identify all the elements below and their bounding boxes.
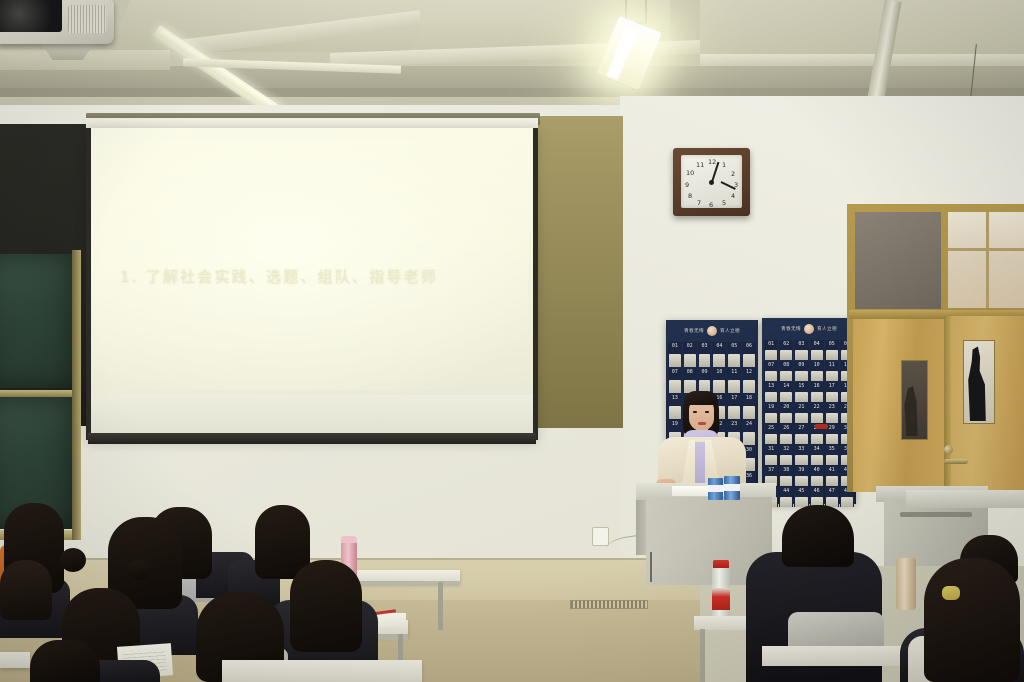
phone-pocket-flap bbox=[795, 350, 807, 360]
phone-pocket: 18 bbox=[742, 394, 756, 419]
water-bottle-label bbox=[712, 588, 730, 610]
phone-pocket-flap bbox=[669, 354, 681, 367]
phone-pocket-flap bbox=[795, 434, 807, 444]
phone-pocket: 02 bbox=[683, 342, 697, 367]
phone-pocket-number: 21 bbox=[798, 403, 804, 410]
phone-pocket: 40 bbox=[810, 466, 824, 486]
desk-front bbox=[222, 660, 422, 682]
phone-pocket-flap bbox=[811, 371, 823, 381]
phone-pocket-number: 16 bbox=[814, 382, 820, 389]
phone-pocket-number: 41 bbox=[829, 466, 835, 473]
phone-pocket-number: 01 bbox=[672, 342, 678, 349]
phone-pocket-number: 10 bbox=[814, 361, 820, 368]
projector-lens-icon bbox=[0, 0, 62, 32]
phone-pocket-flap bbox=[826, 455, 838, 465]
chair-right bbox=[788, 612, 884, 648]
blackboard-divider bbox=[0, 390, 74, 397]
phone-pocket-number: 04 bbox=[814, 340, 820, 347]
phone-pocket-number: 30 bbox=[746, 446, 752, 453]
pink-thermos-cap bbox=[341, 536, 357, 543]
phone-pocket-number: 31 bbox=[768, 445, 774, 452]
phone-pocket: 14 bbox=[779, 382, 793, 402]
phone-pocket-board-right: 青春无悔 育人立德 010203040506070809101112131415… bbox=[762, 318, 856, 504]
clock-numeral-5: 5 bbox=[722, 199, 726, 207]
phone-pocket-flap bbox=[780, 350, 792, 360]
student-hair-9 bbox=[30, 640, 100, 682]
window-mullion-vertical bbox=[986, 212, 989, 308]
phone-pocket: 41 bbox=[825, 466, 839, 486]
phone-pocket: 22 bbox=[810, 403, 824, 423]
student-hair-right bbox=[782, 505, 854, 567]
phone-pocket-flap bbox=[713, 354, 725, 367]
phone-pocket-flap bbox=[728, 406, 740, 419]
phone-pocket-flap bbox=[811, 476, 823, 486]
phone-pocket: 23 bbox=[825, 403, 839, 423]
phone-pocket: 16 bbox=[810, 382, 824, 402]
phone-pocket: 45 bbox=[794, 487, 808, 507]
phone-pocket-number: 10 bbox=[716, 368, 722, 375]
phone-pocket: 01 bbox=[764, 340, 778, 360]
phone-pocket-number: 13 bbox=[672, 394, 678, 401]
phone-pocket: 08 bbox=[779, 361, 793, 381]
slide-text-line-1: 1. 了解社会实践、选题、组队、指导老师 bbox=[120, 266, 520, 287]
wall-outlet bbox=[592, 527, 609, 546]
hair-bun-1 bbox=[60, 548, 86, 572]
phone-pocket-number: 17 bbox=[731, 394, 737, 401]
phone-pocket: 01 bbox=[668, 342, 682, 367]
phone-pocket-flap bbox=[669, 406, 681, 419]
phone-pocket-flap bbox=[743, 406, 755, 419]
phone-pocket: 31 bbox=[764, 445, 778, 465]
student-hair-right-2 bbox=[924, 558, 1020, 682]
projector-vent bbox=[68, 5, 106, 33]
phone-pocket: 19 bbox=[764, 403, 778, 423]
phone-pocket-number: 24 bbox=[746, 420, 752, 427]
desk-front-left bbox=[0, 652, 30, 668]
phone-pocket: 11 bbox=[727, 368, 741, 393]
phone-pocket-flap bbox=[743, 432, 755, 445]
phone-pocket-number: 35 bbox=[829, 445, 835, 452]
phone-pocket-flap bbox=[795, 413, 807, 423]
phone-pocket-flap bbox=[669, 380, 681, 393]
phone-pocket: 39 bbox=[794, 466, 808, 486]
pocket-board-motto-left-2: 育人立德 bbox=[720, 328, 740, 334]
door-knob[interactable] bbox=[944, 445, 953, 454]
phone-pocket-flap bbox=[765, 455, 777, 465]
phone-pocket: 32 bbox=[779, 445, 793, 465]
phone-pocket: 03 bbox=[698, 342, 712, 367]
door-stile bbox=[944, 316, 951, 492]
desk-right-leg bbox=[700, 629, 705, 682]
speaker-eye-left bbox=[693, 411, 697, 413]
phone-pocket: 03 bbox=[794, 340, 808, 360]
phone-pocket: 38 bbox=[779, 466, 793, 486]
phone-pocket: 33 bbox=[794, 445, 808, 465]
pocket-red-marker bbox=[815, 424, 828, 429]
phone-pocket-flap bbox=[811, 455, 823, 465]
phone-pocket-number: 06 bbox=[746, 342, 752, 349]
blue-cup-1-label bbox=[708, 485, 723, 492]
screen-weight-bar bbox=[88, 433, 536, 444]
phone-pocket-flap bbox=[795, 371, 807, 381]
phone-pocket: 34 bbox=[810, 445, 824, 465]
phone-pocket-number: 29 bbox=[829, 424, 835, 431]
phone-pocket-flap bbox=[795, 476, 807, 486]
desk-leg-a bbox=[438, 582, 443, 630]
phone-pocket-number: 08 bbox=[783, 361, 789, 368]
phone-pocket-flap bbox=[826, 476, 838, 486]
phone-pocket-number: 05 bbox=[829, 340, 835, 347]
floor-vent bbox=[570, 600, 648, 609]
phone-pocket-flap bbox=[699, 354, 711, 367]
clock-numeral-9: 9 bbox=[685, 181, 689, 189]
phone-pocket-flap bbox=[780, 434, 792, 444]
phone-pocket-flap bbox=[780, 371, 792, 381]
phone-pocket: 09 bbox=[794, 361, 808, 381]
phone-pocket-flap bbox=[728, 354, 740, 367]
phone-pocket: 47 bbox=[825, 487, 839, 507]
clock-numeral-7: 7 bbox=[697, 199, 701, 207]
phone-pocket-number: 32 bbox=[783, 445, 789, 452]
phone-pocket: 20 bbox=[779, 403, 793, 423]
phone-pocket-number: 18 bbox=[746, 394, 752, 401]
phone-pocket-flap bbox=[780, 476, 792, 486]
speaker-hair-front bbox=[684, 391, 718, 405]
tan-thermos bbox=[896, 558, 916, 610]
phone-pocket: 10 bbox=[712, 368, 726, 393]
pocket-board-header-right: 青春无悔 育人立德 bbox=[762, 319, 856, 339]
phone-pocket: 13 bbox=[764, 382, 778, 402]
phone-pocket: 09 bbox=[698, 368, 712, 393]
pocket-grid-right: 0102030405060708091011121314151617181920… bbox=[764, 340, 854, 502]
phone-pocket-number: 47 bbox=[829, 487, 835, 494]
lamp-stem-2 bbox=[645, 0, 647, 24]
clock-numeral-2: 2 bbox=[731, 170, 735, 178]
phone-pocket-flap bbox=[826, 371, 838, 381]
phone-pocket-number: 19 bbox=[672, 420, 678, 427]
phone-pocket-number: 23 bbox=[829, 403, 835, 410]
phone-pocket-number: 19 bbox=[768, 403, 774, 410]
phone-pocket: 11 bbox=[825, 361, 839, 381]
clock-hub bbox=[709, 180, 714, 185]
desk-center-rear-edge bbox=[352, 581, 460, 586]
phone-pocket-flap bbox=[826, 434, 838, 444]
phone-pocket: 17 bbox=[727, 394, 741, 419]
phone-pocket: 15 bbox=[794, 382, 808, 402]
speaker-eye-right bbox=[705, 411, 709, 413]
phone-pocket-number: 11 bbox=[829, 361, 835, 368]
phone-pocket-number: 07 bbox=[768, 361, 774, 368]
phone-pocket: 25 bbox=[764, 424, 778, 444]
desk-right-rear bbox=[906, 490, 1024, 508]
phone-pocket-number: 40 bbox=[814, 466, 820, 473]
phone-pocket-flap bbox=[765, 392, 777, 402]
pocket-board-motto-right-2: 育人立德 bbox=[817, 326, 837, 332]
phone-pocket-number: 44 bbox=[783, 487, 789, 494]
pocket-board-motto-left: 青春无悔 bbox=[684, 328, 704, 334]
phone-pocket: 04 bbox=[810, 340, 824, 360]
phone-pocket: 04 bbox=[712, 342, 726, 367]
hair-tie-icon bbox=[942, 586, 960, 600]
phone-pocket-number: 38 bbox=[783, 466, 789, 473]
phone-pocket-number: 20 bbox=[783, 403, 789, 410]
podium-cable bbox=[650, 552, 652, 582]
blackboard-panel-top bbox=[0, 254, 72, 388]
clock-numeral-4: 4 bbox=[731, 192, 735, 200]
clock-numeral-8: 8 bbox=[688, 192, 692, 200]
clock-numeral-10: 10 bbox=[686, 169, 694, 177]
phone-pocket-number: 26 bbox=[783, 424, 789, 431]
phone-pocket-flap bbox=[795, 392, 807, 402]
phone-pocket-number: 23 bbox=[731, 420, 737, 427]
phone-pocket: 46 bbox=[810, 487, 824, 507]
phone-pocket-number: 04 bbox=[716, 342, 722, 349]
phone-pocket-number: 17 bbox=[829, 382, 835, 389]
phone-pocket: 17 bbox=[825, 382, 839, 402]
phone-pocket-number: 46 bbox=[814, 487, 820, 494]
phone-pocket-number: 13 bbox=[768, 382, 774, 389]
phone-pocket-number: 12 bbox=[746, 368, 752, 375]
phone-pocket-number: 39 bbox=[798, 466, 804, 473]
screen-light-falloff bbox=[92, 140, 528, 390]
phone-pocket-flap bbox=[826, 392, 838, 402]
phone-pocket: 12 bbox=[742, 368, 756, 393]
phone-pocket: 05 bbox=[727, 342, 741, 367]
phone-pocket-number: 11 bbox=[731, 368, 737, 375]
phone-pocket-flap bbox=[811, 434, 823, 444]
projector bbox=[0, 0, 114, 44]
phone-pocket-flap bbox=[765, 434, 777, 444]
side-counter-slot bbox=[900, 512, 972, 517]
phone-pocket: 08 bbox=[683, 368, 697, 393]
phone-pocket-flap bbox=[780, 413, 792, 423]
phone-pocket: 35 bbox=[825, 445, 839, 465]
phone-pocket-number: 37 bbox=[768, 466, 774, 473]
phone-pocket: 02 bbox=[779, 340, 793, 360]
phone-pocket-number: 45 bbox=[798, 487, 804, 494]
phone-pocket: 06 bbox=[742, 342, 756, 367]
phone-pocket-number: 07 bbox=[672, 368, 678, 375]
water-bottle-cap bbox=[713, 560, 729, 568]
phone-pocket-number: 25 bbox=[768, 424, 774, 431]
clock-numeral-6: 6 bbox=[709, 201, 713, 209]
phone-pocket-number: 05 bbox=[731, 342, 737, 349]
screen-edge-left bbox=[86, 128, 91, 440]
phone-pocket-flap bbox=[765, 371, 777, 381]
classroom-photo: 1. 了解社会实践、选题、组队、指导老师 12 1 2 3 4 5 6 7 8 … bbox=[0, 0, 1024, 682]
phone-pocket: 10 bbox=[810, 361, 824, 381]
phone-pocket-flap bbox=[765, 413, 777, 423]
phone-pocket: 05 bbox=[825, 340, 839, 360]
phone-pocket-number: 09 bbox=[798, 361, 804, 368]
phone-pocket-number: 08 bbox=[687, 368, 693, 375]
phone-pocket-flap bbox=[684, 354, 696, 367]
phone-pocket-flap bbox=[841, 497, 853, 507]
door-handle[interactable] bbox=[944, 459, 968, 464]
window-mullion-horizontal bbox=[948, 248, 1024, 251]
phone-pocket: 26 bbox=[779, 424, 793, 444]
phone-pocket-flap bbox=[743, 354, 755, 367]
phone-pocket-flap bbox=[795, 455, 807, 465]
phone-pocket-flap bbox=[780, 392, 792, 402]
transom-panel-left bbox=[855, 212, 941, 309]
phone-pocket-flap bbox=[811, 392, 823, 402]
phone-pocket-flap bbox=[765, 350, 777, 360]
phone-pocket-flap bbox=[780, 497, 792, 507]
school-emblem-icon bbox=[707, 326, 717, 336]
hair-bun-2 bbox=[128, 560, 150, 580]
student-hair-5 bbox=[290, 560, 362, 652]
phone-pocket: 44 bbox=[779, 487, 793, 507]
phone-pocket-number: 36 bbox=[746, 472, 752, 479]
phone-pocket-number: 27 bbox=[798, 424, 804, 431]
pocket-board-header-left: 青春无悔 育人立德 bbox=[666, 321, 758, 341]
phone-pocket-number: 01 bbox=[768, 340, 774, 347]
blackboard-left bbox=[0, 124, 90, 426]
phone-pocket-number: 02 bbox=[783, 340, 789, 347]
blackboard-side-rail bbox=[72, 250, 81, 540]
phone-pocket-flap bbox=[826, 413, 838, 423]
student-hair-8 bbox=[0, 560, 52, 620]
phone-pocket: 21 bbox=[794, 403, 808, 423]
phone-pocket-number: 02 bbox=[687, 342, 693, 349]
phone-pocket: 27 bbox=[794, 424, 808, 444]
phone-pocket-flap bbox=[743, 380, 755, 393]
phone-pocket: 07 bbox=[764, 361, 778, 381]
phone-pocket-flap bbox=[780, 455, 792, 465]
phone-pocket-flap bbox=[728, 380, 740, 393]
phone-pocket-number: 15 bbox=[798, 382, 804, 389]
phone-pocket-number: 03 bbox=[702, 342, 708, 349]
phone-pocket-number: 34 bbox=[814, 445, 820, 452]
phone-pocket-flap bbox=[811, 350, 823, 360]
pocket-board-motto-right: 青春无悔 bbox=[781, 326, 801, 332]
phone-pocket: 24 bbox=[742, 420, 756, 445]
blue-cup-2-label bbox=[724, 484, 740, 491]
phone-pocket-number: 03 bbox=[798, 340, 804, 347]
phone-pocket-number: 09 bbox=[702, 368, 708, 375]
screen-edge-right bbox=[533, 128, 538, 440]
school-emblem-icon-2 bbox=[804, 324, 814, 334]
clock-numeral-11: 11 bbox=[696, 161, 704, 169]
phone-pocket: 07 bbox=[668, 368, 682, 393]
speaker-mouth bbox=[698, 422, 706, 425]
clock-numeral-12: 12 bbox=[708, 158, 716, 166]
phone-pocket-flap bbox=[811, 413, 823, 423]
phone-pocket: 13 bbox=[668, 394, 682, 419]
phone-pocket-flap bbox=[826, 350, 838, 360]
clock-numeral-1: 1 bbox=[722, 161, 726, 169]
phone-pocket-flap bbox=[713, 380, 725, 393]
screen-lower-band bbox=[90, 395, 534, 435]
phone-pocket-number: 14 bbox=[783, 382, 789, 389]
phone-pocket-number: 22 bbox=[814, 403, 820, 410]
phone-pocket-number: 33 bbox=[798, 445, 804, 452]
